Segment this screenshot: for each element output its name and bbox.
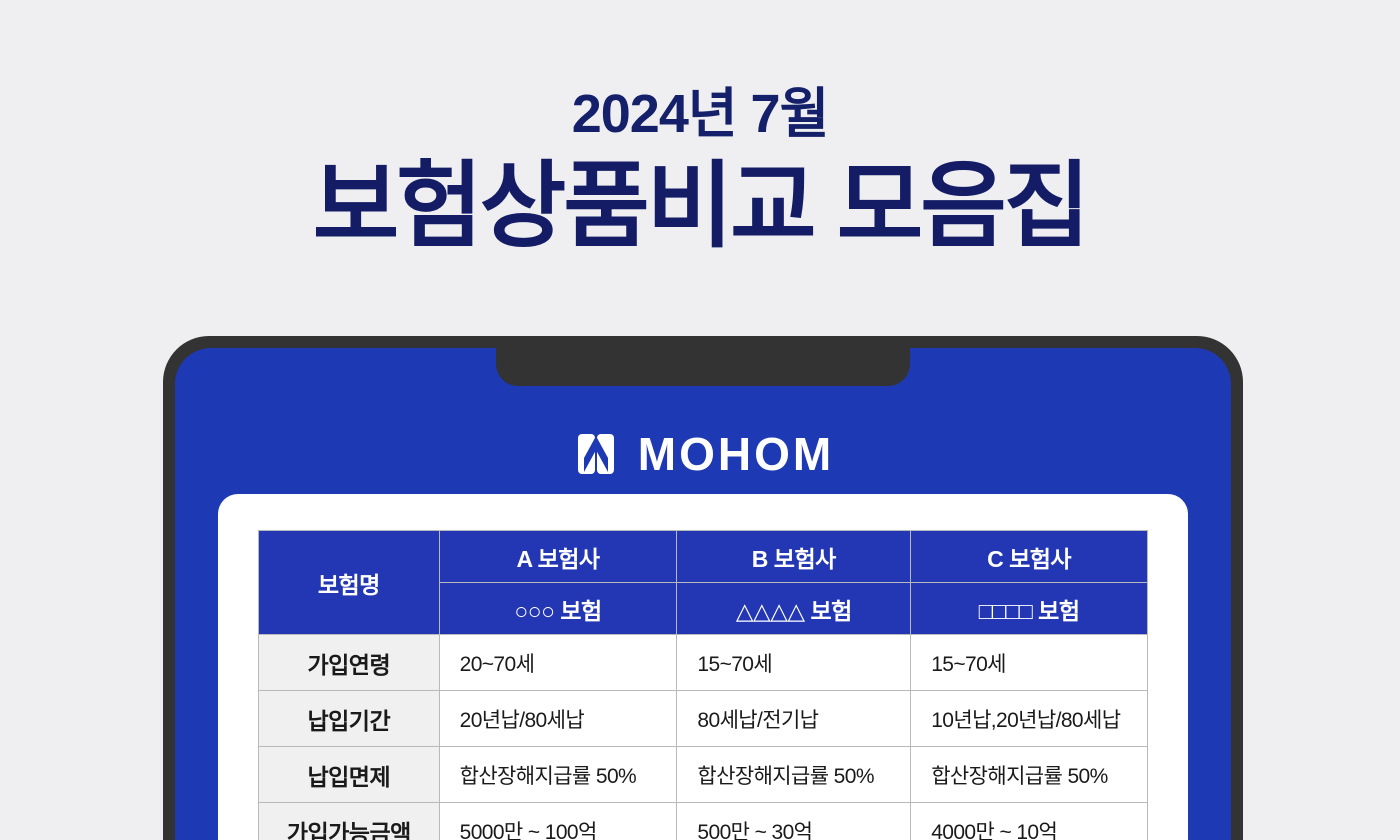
cell-payment-period-c: 10년납,20년납/80세납: [911, 691, 1148, 747]
phone-notch: [496, 348, 910, 386]
brand-lockup: MOHOM: [175, 430, 1231, 478]
row-label-coverage-amount: 가입가능금액: [259, 803, 440, 840]
cell-coverage-amount-c: 4000만 ~ 10억: [911, 803, 1148, 840]
header-cell-product-a: ○○○ 보험: [439, 583, 677, 635]
mohom-logo-mark-icon: [572, 430, 620, 478]
header-cell-product-c: □□□□ 보험: [911, 583, 1148, 635]
cell-join-age-c: 15~70세: [911, 635, 1148, 691]
page-title: 보험상품비교 모음집: [0, 157, 1400, 256]
table-row: 가입가능금액 5000만 ~ 100억 500만 ~ 30억 4000만 ~ 1…: [259, 803, 1148, 840]
subtitle-date: 2024년 7월: [0, 86, 1400, 143]
cell-join-age-a: 20~70세: [439, 635, 677, 691]
row-label-payment-waiver: 납입면제: [259, 747, 440, 803]
table-body: 가입연령 20~70세 15~70세 15~70세 납입기간 20년납/80세납…: [259, 635, 1148, 840]
table-row: 납입면제 합산장해지급률 50% 합산장해지급률 50% 합산장해지급률 50%: [259, 747, 1148, 803]
table-row: 가입연령 20~70세 15~70세 15~70세: [259, 635, 1148, 691]
phone-screen: MOHOM 보험명 A 보험사 B 보험사 C 보험사: [175, 348, 1231, 840]
header-cell-company-a: A 보험사: [439, 531, 677, 583]
header-cell-company-b: B 보험사: [677, 531, 911, 583]
cell-payment-waiver-c: 합산장해지급률 50%: [911, 747, 1148, 803]
header-cell-product-b: △△△△ 보험: [677, 583, 911, 635]
phone-mockup: MOHOM 보험명 A 보험사 B 보험사 C 보험사: [163, 336, 1243, 840]
table-row: 납입기간 20년납/80세납 80세납/전기납 10년납,20년납/80세납: [259, 691, 1148, 747]
header-cell-product-name: 보험명: [259, 531, 440, 635]
table-head: 보험명 A 보험사 B 보험사 C 보험사 ○○○ 보험 △△△△ 보험 □□□…: [259, 531, 1148, 635]
content-card: 보험명 A 보험사 B 보험사 C 보험사 ○○○ 보험 △△△△ 보험 □□□…: [218, 494, 1188, 840]
insurance-comparison-table: 보험명 A 보험사 B 보험사 C 보험사 ○○○ 보험 △△△△ 보험 □□□…: [258, 530, 1148, 840]
cell-payment-period-b: 80세납/전기납: [677, 691, 911, 747]
cell-join-age-b: 15~70세: [677, 635, 911, 691]
brand-name: MOHOM: [638, 431, 834, 477]
cell-coverage-amount-b: 500만 ~ 30억: [677, 803, 911, 840]
table-header-row-company: 보험명 A 보험사 B 보험사 C 보험사: [259, 531, 1148, 583]
title-block: 2024년 7월 보험상품비교 모음집: [0, 0, 1400, 255]
header-cell-company-c: C 보험사: [911, 531, 1148, 583]
cell-payment-waiver-b: 합산장해지급률 50%: [677, 747, 911, 803]
cell-coverage-amount-a: 5000만 ~ 100억: [439, 803, 677, 840]
row-label-join-age: 가입연령: [259, 635, 440, 691]
row-label-payment-period: 납입기간: [259, 691, 440, 747]
cell-payment-period-a: 20년납/80세납: [439, 691, 677, 747]
cell-payment-waiver-a: 합산장해지급률 50%: [439, 747, 677, 803]
